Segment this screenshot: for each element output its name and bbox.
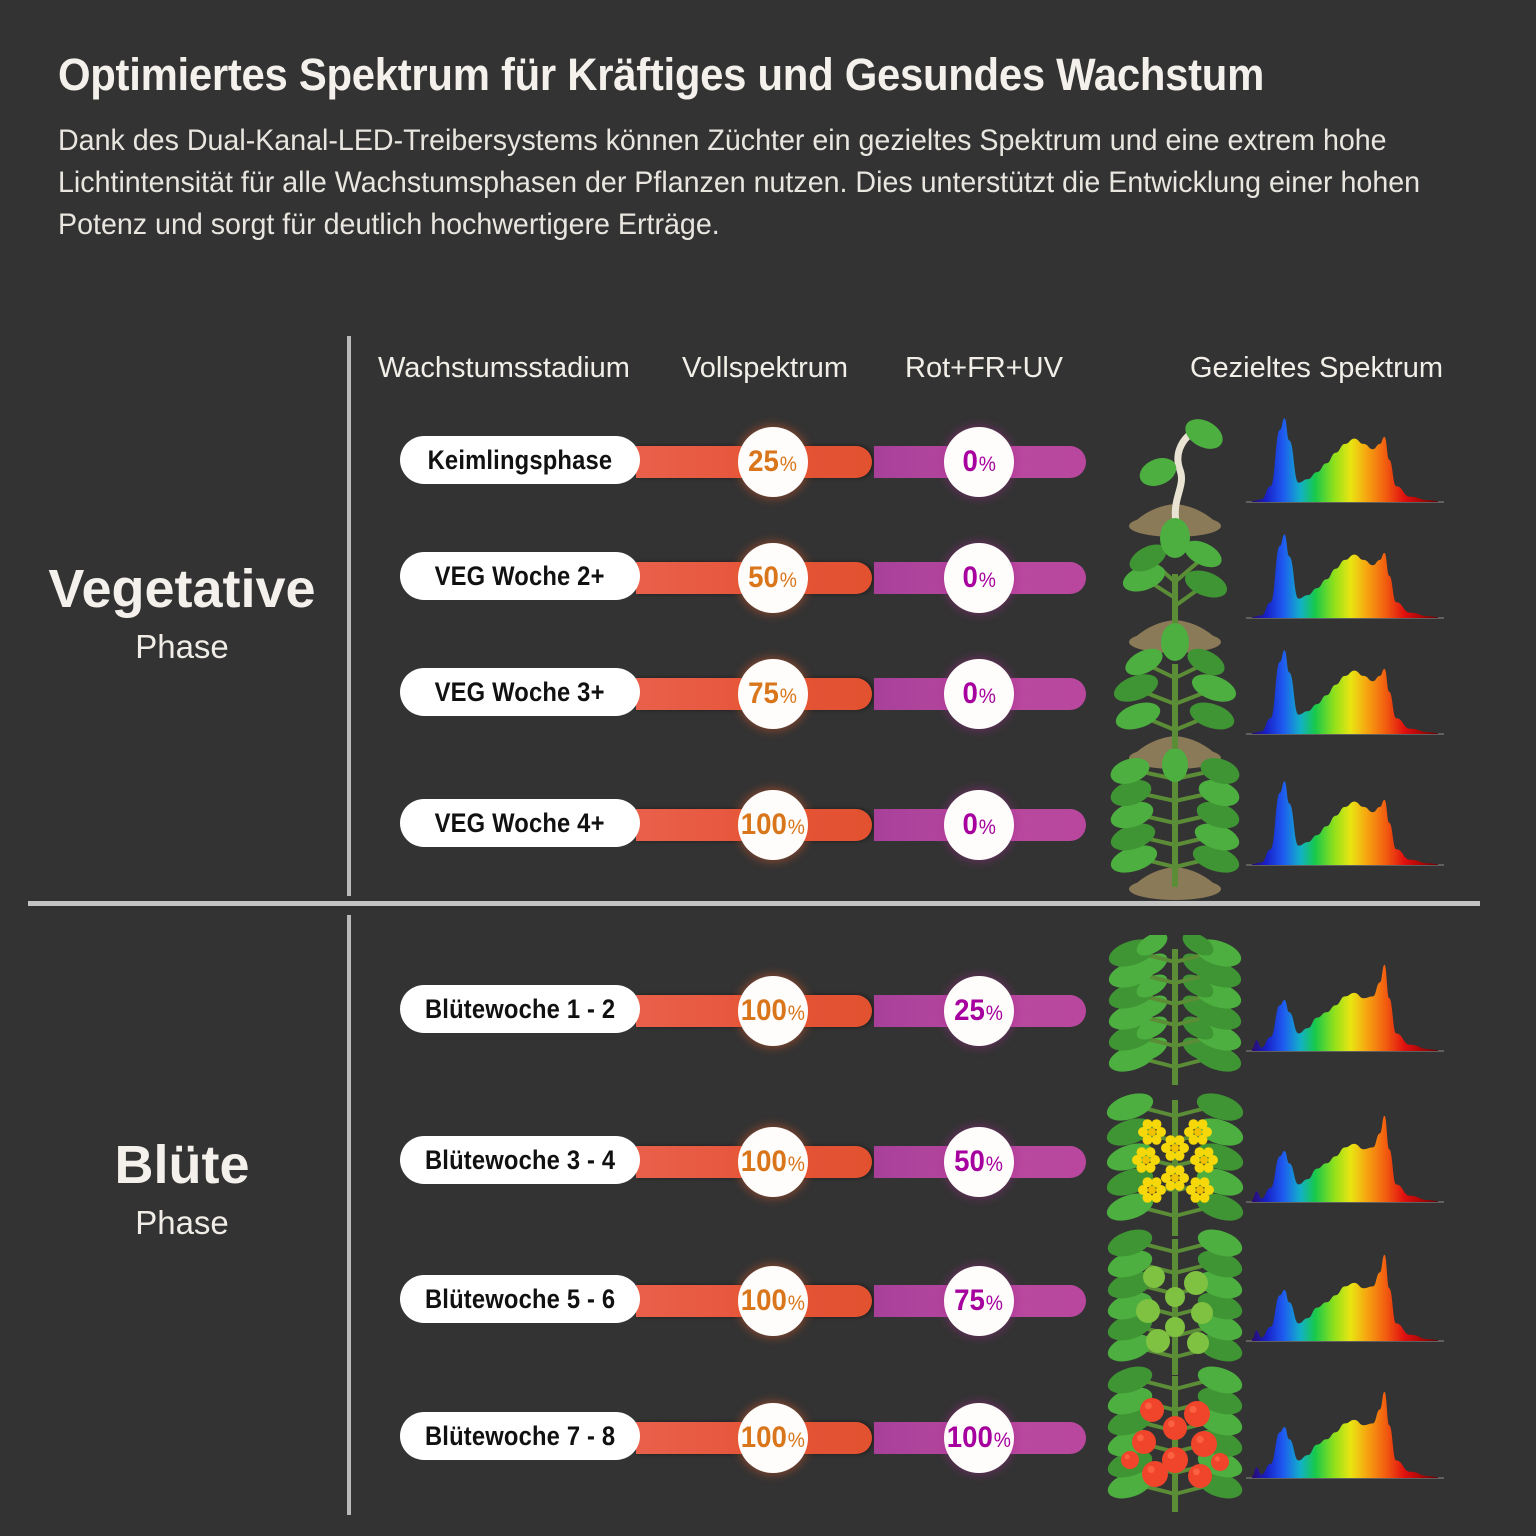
full-spectrum-badge[interactable]: 25 % [738,427,808,497]
full-spectrum-badge[interactable]: 50 % [738,543,808,613]
red-fr-uv-value: 0 [962,679,977,709]
bloom-spectrum-chart [1240,1102,1450,1222]
bushy-plant-icon [1100,935,1250,1087]
stage-label-text: Blütewoche 3 - 4 [425,1145,615,1176]
veg-spectrum-chart [1240,765,1450,885]
full-spectrum-badge[interactable]: 75 % [738,659,808,729]
column-header-red-fr-uv: Rot+FR+UV [905,352,1063,385]
stage-row: Blütewoche 5 - 6 100 % 75 % [0,1269,1536,1333]
veg-spectrum-chart [1240,402,1450,522]
percent-unit: % [788,1293,805,1314]
percent-unit: % [780,570,797,591]
full-spectrum-value: 100 [741,1147,787,1177]
phase-sub: Phase [22,628,342,666]
percent-unit: % [788,1154,805,1175]
percent-unit: % [986,1154,1003,1175]
ripe-fruit-plant-icon [1100,1362,1250,1514]
red-fr-uv-value: 50 [955,1147,986,1177]
percent-unit: % [788,817,805,838]
percent-unit: % [994,1430,1011,1451]
phase-sub: Phase [22,1204,342,1242]
red-fr-uv-value: 25 [955,996,986,1026]
red-fr-uv-value: 0 [962,447,977,477]
red-fr-uv-badge[interactable]: 0 % [944,427,1014,497]
stage-label-text: Blütewoche 5 - 6 [425,1284,615,1315]
red-fr-uv-badge[interactable]: 0 % [944,790,1014,860]
full-spectrum-value: 100 [741,996,787,1026]
stage-label-text: Blütewoche 1 - 2 [425,994,615,1025]
flowering-plant-icon [1100,1086,1250,1238]
bloom-spectrum-chart [1240,951,1450,1071]
percent-unit: % [979,454,996,475]
header-block: Optimiertes Spektrum für Kräftiges und G… [58,50,1478,246]
stage-row: Keimlingsphase 25 % 0 % [0,430,1536,494]
percent-unit: % [986,1293,1003,1314]
red-fr-uv-badge[interactable]: 100 % [944,1403,1014,1473]
page-title: Optimiertes Spektrum für Kräftiges und G… [58,50,1379,100]
red-fr-uv-badge[interactable]: 50 % [944,1127,1014,1197]
red-fr-uv-value: 0 [962,810,977,840]
stage-label-text: VEG Woche 2+ [435,561,605,592]
stage-label-pill[interactable]: Keimlingsphase [400,436,640,484]
green-fruit-plant-icon [1100,1225,1250,1377]
percent-unit: % [788,1003,805,1024]
veg-spectrum-chart [1240,634,1450,754]
percent-unit: % [788,1430,805,1451]
stage-label-text: VEG Woche 3+ [435,677,605,708]
bloom-spectrum-chart [1240,1378,1450,1498]
percent-unit: % [986,1003,1003,1024]
full-spectrum-badge[interactable]: 100 % [738,976,808,1046]
red-fr-uv-badge[interactable]: 0 % [944,543,1014,613]
stage-label-pill[interactable]: Blütewoche 3 - 4 [400,1136,640,1184]
percent-unit: % [979,686,996,707]
red-fr-uv-value: 0 [962,563,977,593]
percent-unit: % [979,817,996,838]
full-spectrum-value: 100 [741,1423,787,1453]
red-fr-uv-badge[interactable]: 75 % [944,1266,1014,1336]
stage-row: VEG Woche 2+ 50 % 0 % [0,546,1536,610]
stage-row: Blütewoche 7 - 8 100 % 100 % [0,1406,1536,1470]
full-spectrum-badge[interactable]: 100 % [738,1403,808,1473]
stage-row: Blütewoche 3 - 4 100 % 50 % [0,1130,1536,1194]
percent-unit: % [979,570,996,591]
stage-label-pill[interactable]: VEG Woche 3+ [400,668,640,716]
red-fr-uv-value: 75 [955,1286,986,1316]
percent-unit: % [780,686,797,707]
stage-label-pill[interactable]: Blütewoche 1 - 2 [400,985,640,1033]
stage-row: VEG Woche 4+ 100 % 0 % [0,793,1536,857]
column-header-targeted-spectrum: Gezieltes Spektrum [1190,352,1443,385]
infographic-page: Optimiertes Spektrum für Kräftiges und G… [0,0,1536,1536]
mature-veg-plant-icon [1100,749,1250,901]
red-fr-uv-badge[interactable]: 25 % [944,976,1014,1046]
red-fr-uv-value: 100 [947,1423,993,1453]
full-spectrum-value: 75 [749,679,780,709]
red-fr-uv-badge[interactable]: 0 % [944,659,1014,729]
stage-label-pill[interactable]: VEG Woche 4+ [400,799,640,847]
veg-spectrum-chart [1240,518,1450,638]
column-header-full-spectrum: Vollspektrum [682,352,848,385]
horizontal-phase-divider [28,901,1480,906]
full-spectrum-value: 25 [749,447,780,477]
stage-label-pill[interactable]: Blütewoche 7 - 8 [400,1412,640,1460]
stage-row: Blütewoche 1 - 2 100 % 25 % [0,979,1536,1043]
stage-label-pill[interactable]: VEG Woche 2+ [400,552,640,600]
percent-unit: % [780,454,797,475]
full-spectrum-badge[interactable]: 100 % [738,790,808,860]
stage-row: VEG Woche 3+ 75 % 0 % [0,662,1536,726]
stage-label-text: Keimlingsphase [428,445,613,476]
full-spectrum-value: 100 [741,1286,787,1316]
stage-label-pill[interactable]: Blütewoche 5 - 6 [400,1275,640,1323]
full-spectrum-badge[interactable]: 100 % [738,1127,808,1197]
column-header-stage: Wachstumsstadium [378,352,630,385]
full-spectrum-value: 50 [749,563,780,593]
full-spectrum-value: 100 [741,810,787,840]
stage-label-text: Blütewoche 7 - 8 [425,1421,615,1452]
bloom-spectrum-chart [1240,1241,1450,1361]
full-spectrum-badge[interactable]: 100 % [738,1266,808,1336]
page-subtitle: Dank des Dual-Kanal-LED-Treibersystems k… [58,120,1440,246]
growing-plant-icon [1100,618,1250,770]
stage-label-text: VEG Woche 4+ [435,808,605,839]
